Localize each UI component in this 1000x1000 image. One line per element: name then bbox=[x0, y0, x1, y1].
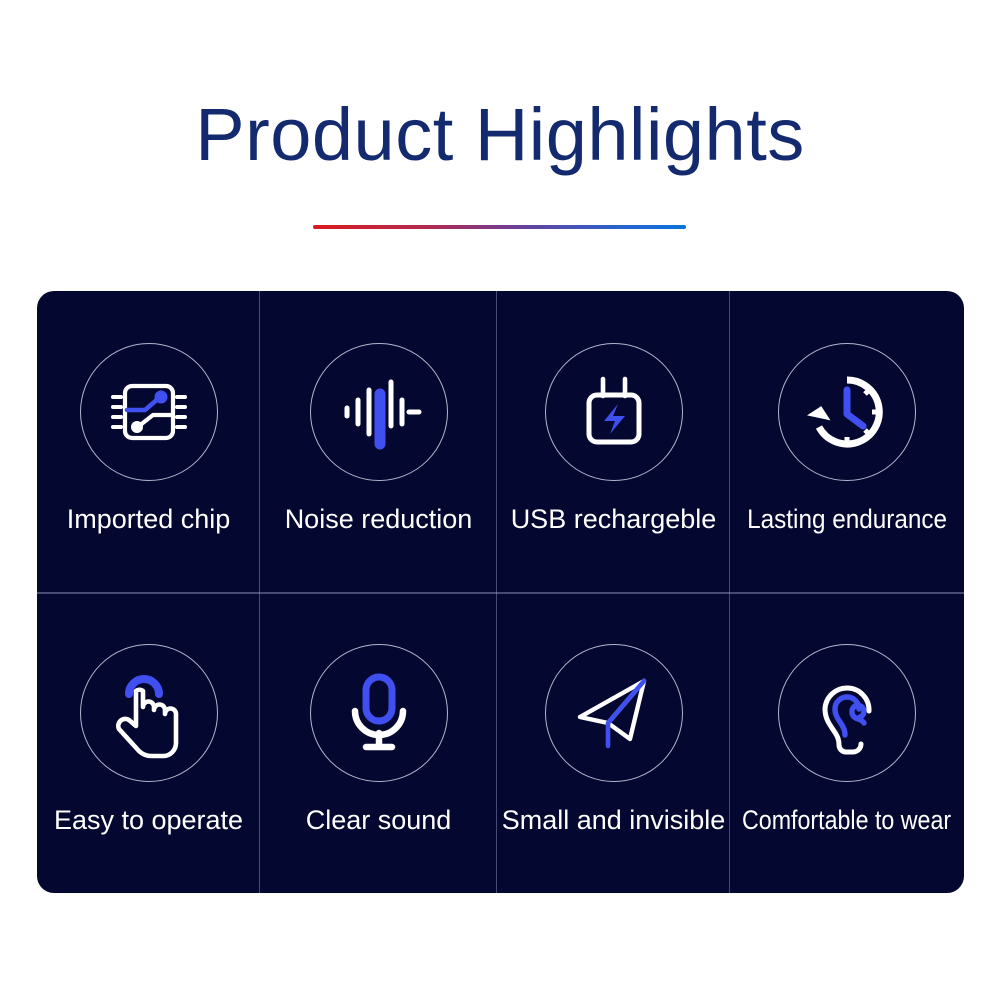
highlight-cell-comfortable-to-wear[interactable]: Comfortable to wear bbox=[730, 592, 964, 893]
highlight-label: Imported chip bbox=[67, 504, 231, 535]
highlight-cell-clear-sound[interactable]: Clear sound bbox=[260, 592, 497, 893]
grid-row-divider bbox=[37, 592, 964, 594]
tap-hand-icon bbox=[80, 644, 218, 782]
highlight-label: Lasting endurance bbox=[747, 504, 947, 535]
highlight-label: Easy to operate bbox=[54, 805, 243, 836]
highlight-cell-usb-rechargeble[interactable]: USB rechargeble bbox=[497, 291, 730, 592]
highlights-panel: Imported chip bbox=[37, 291, 964, 893]
page-title: Product Highlights bbox=[0, 0, 1000, 174]
highlight-cell-lasting-endurance[interactable]: Lasting endurance bbox=[730, 291, 964, 592]
ear-icon bbox=[778, 644, 916, 782]
highlight-cell-noise-reduction[interactable]: Noise reduction bbox=[260, 291, 497, 592]
highlight-label: USB rechargeble bbox=[511, 504, 717, 535]
microphone-icon bbox=[310, 644, 448, 782]
page-header: Product Highlights bbox=[0, 0, 1000, 174]
product-highlights-page: Product Highlights bbox=[0, 0, 1000, 1000]
highlight-cell-imported-chip[interactable]: Imported chip bbox=[37, 291, 260, 592]
clock-restore-icon bbox=[778, 343, 916, 481]
title-underline-accent bbox=[313, 225, 686, 229]
microchip-icon bbox=[80, 343, 218, 481]
highlight-cell-small-and-invisible[interactable]: Small and invisible bbox=[497, 592, 730, 893]
highlight-label: Noise reduction bbox=[285, 504, 473, 535]
charger-plug-icon bbox=[545, 343, 683, 481]
highlight-label: Comfortable to wear bbox=[742, 805, 951, 836]
highlight-label: Small and invisible bbox=[502, 805, 726, 836]
sound-wave-icon bbox=[310, 343, 448, 481]
paper-plane-icon bbox=[545, 644, 683, 782]
highlight-cell-easy-to-operate[interactable]: Easy to operate bbox=[37, 592, 260, 893]
highlight-label: Clear sound bbox=[306, 805, 452, 836]
